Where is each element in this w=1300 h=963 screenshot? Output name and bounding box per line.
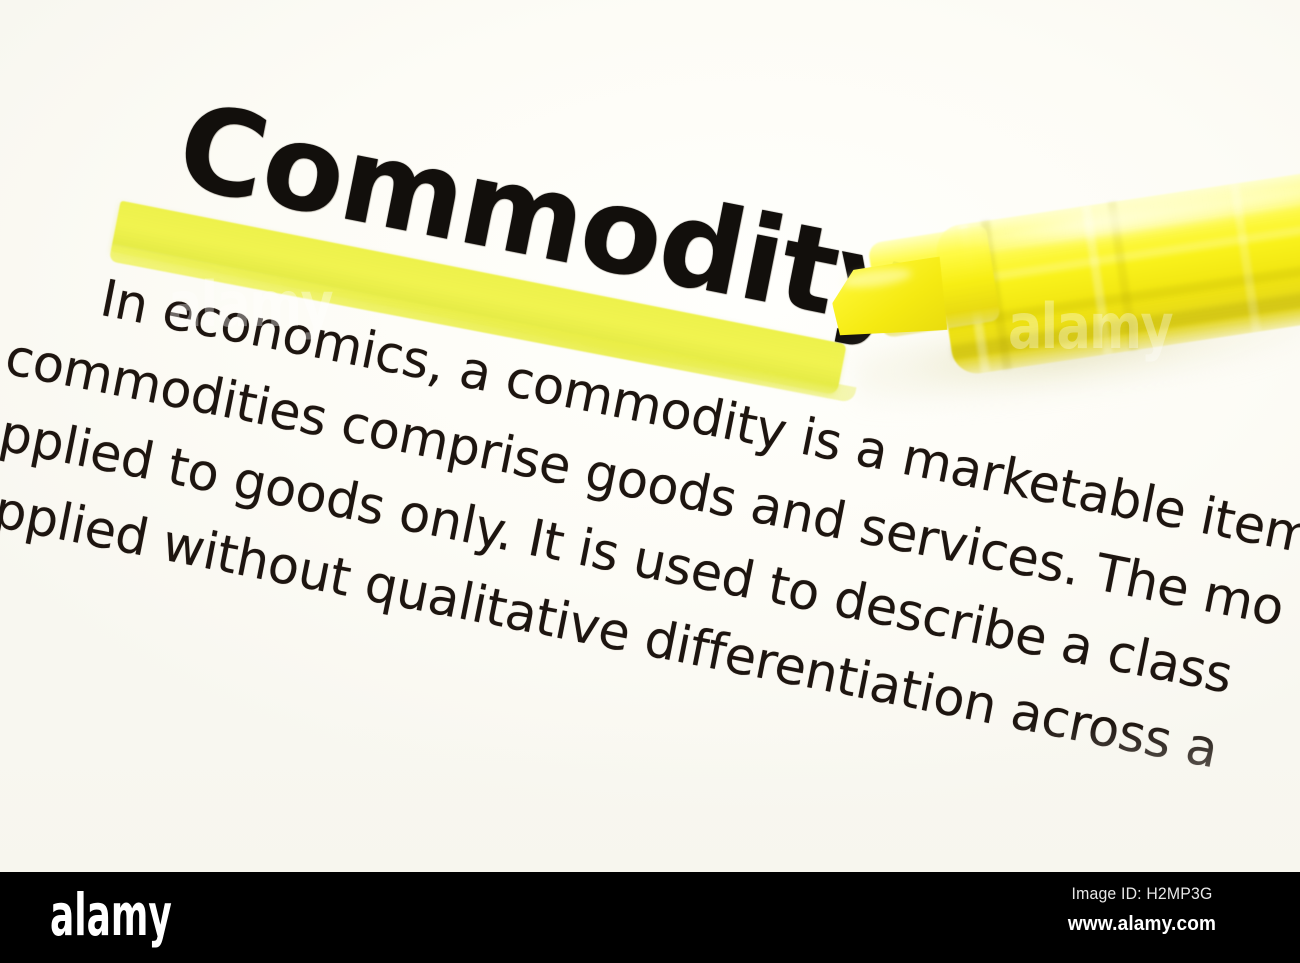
- watermark-text: alamy: [1008, 290, 1172, 363]
- website-url[interactable]: www.alamy.com: [1019, 913, 1266, 936]
- watermark-layer: alamy alamy: [0, 0, 1300, 872]
- image-id-label: Image ID: H2MP3G: [1021, 884, 1263, 904]
- footer-meta: Image ID: H2MP3G www.alamy.com: [1012, 884, 1272, 936]
- alamy-footer-bar: alamy Image ID: H2MP3G www.alamy.com: [0, 872, 1300, 963]
- screenshot-root: Commodity In economics, a commodity is a…: [0, 0, 1300, 963]
- alamy-logo: alamy: [50, 886, 172, 944]
- stock-photo: Commodity In economics, a commodity is a…: [0, 0, 1300, 872]
- watermark-text: alamy: [168, 268, 332, 341]
